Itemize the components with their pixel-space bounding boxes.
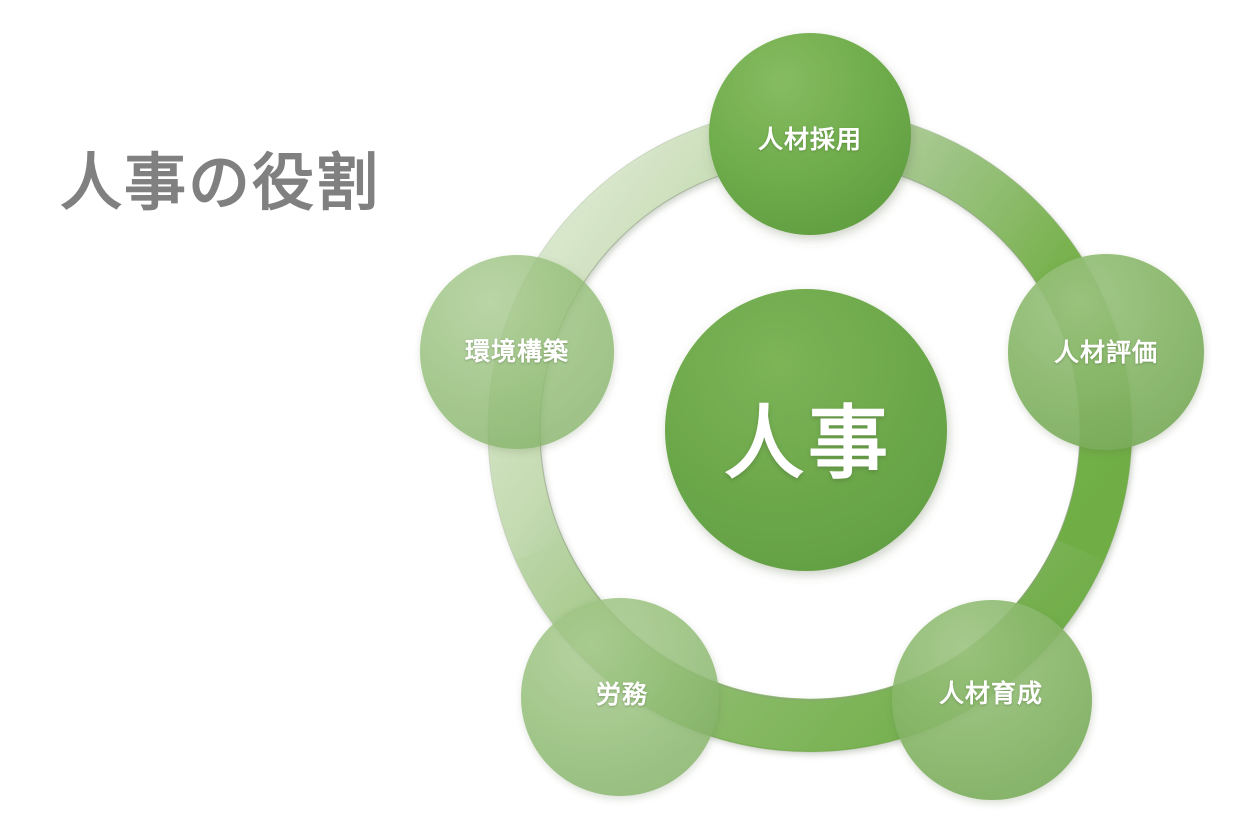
center-node-label: 人事	[724, 379, 892, 495]
slide-canvas: 人事の役割	[0, 0, 1260, 840]
cycle-diagram	[0, 0, 1260, 840]
node-environment-label: 環境構築	[465, 332, 569, 368]
node-recruitment-label: 人材採用	[758, 120, 862, 156]
node-labor-label: 労務	[596, 675, 648, 711]
node-development-label: 人材育成	[939, 674, 1043, 710]
node-evaluation-label: 人材評価	[1054, 333, 1158, 369]
